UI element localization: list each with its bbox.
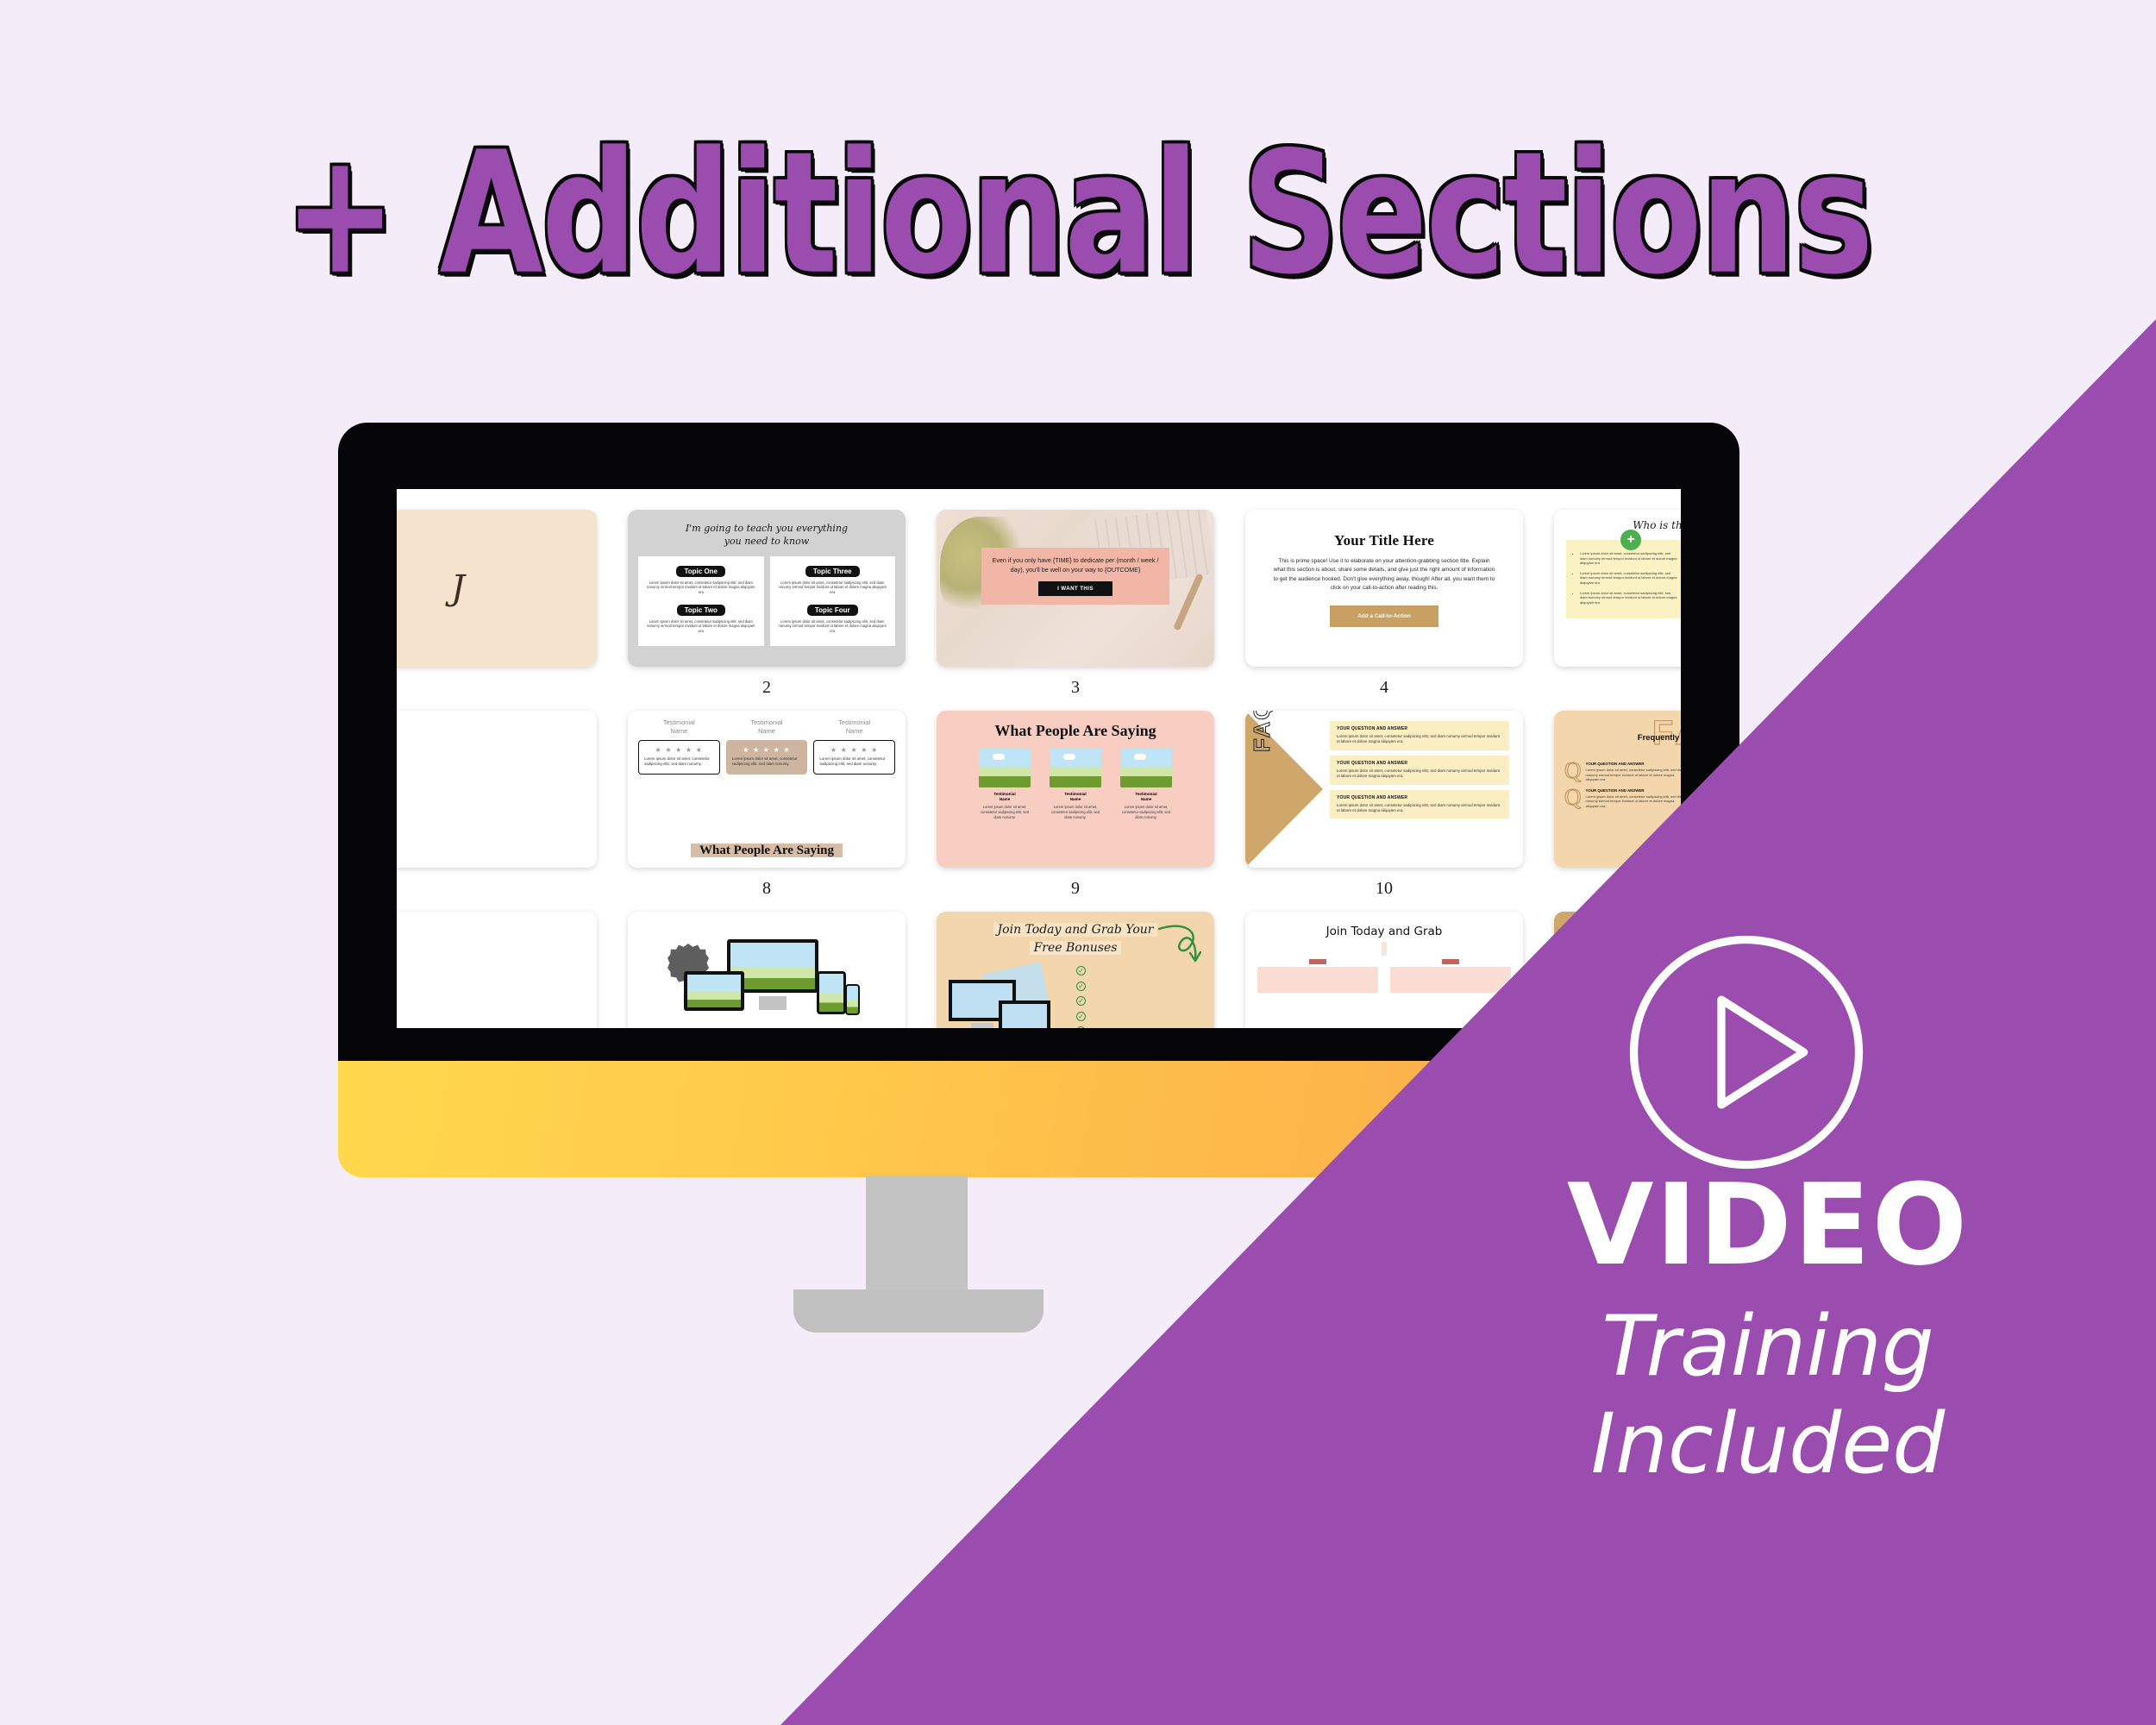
small-tablet-icon bbox=[817, 971, 846, 1014]
slide-15-bonuses-checklist: Join Today and Grab Your Free Bonuses bbox=[937, 912, 1214, 1028]
slide-number-9: 9 bbox=[937, 879, 1214, 901]
play-circle-icon[interactable] bbox=[1621, 927, 1871, 1177]
slide-16-title: Join Today and Grab bbox=[1257, 924, 1511, 957]
slide-4-cta-button[interactable]: Add a Call-to-Action bbox=[1330, 605, 1438, 627]
faq-answer: Lorem ipsum dolor sit amet, consetetur s… bbox=[1337, 803, 1502, 814]
testimonial-quote: Lorem ipsum dolor sit amet, consetetur s… bbox=[819, 756, 889, 768]
faq-question: YOUR QUESTION AND ANSWER bbox=[1337, 795, 1502, 800]
topic-label: Topic Two bbox=[677, 605, 725, 616]
slide-thumbnail-4[interactable]: Your Title Here This is prime space! Use… bbox=[1245, 510, 1523, 667]
slide-1-monogram-art: J bbox=[397, 510, 597, 667]
checklist: ✓ ✓ ✓ ✓ ✓ bbox=[1076, 966, 1091, 1028]
slide-number-5: 5 bbox=[1554, 678, 1681, 700]
faq-answer: Lorem ipsum dolor sit amet, consetetur s… bbox=[1586, 794, 1682, 809]
slide-4-body: This is prime space! Use it to elaborate… bbox=[1268, 557, 1501, 593]
slide-2-column-right: Topic Three Lorem ipsum dolor sit amet, … bbox=[770, 556, 896, 646]
slide-cell-9[interactable]: What People Are Saying TestimonialName L… bbox=[921, 700, 1230, 901]
bonus-card bbox=[1390, 967, 1511, 993]
slide-cell-13[interactable]: 13 bbox=[397, 901, 612, 1028]
checklist-item: ✓ bbox=[1076, 966, 1091, 975]
testimonial-quote: Lorem ipsum dolor sit amet, consetetur s… bbox=[644, 756, 714, 768]
topic-body: Lorem ipsum dolor sit amet, consetetur s… bbox=[775, 619, 891, 634]
poster-canvas: + Additional Sections J 1 bbox=[0, 0, 2156, 1725]
slide-14-bonuses-devices bbox=[628, 912, 906, 1028]
image-placeholder bbox=[1120, 748, 1172, 787]
bonus-tag bbox=[1442, 959, 1459, 964]
topic-label: Topic Three bbox=[805, 566, 860, 577]
checklist-item: ✓ bbox=[1076, 1026, 1091, 1028]
slide-number-8: 8 bbox=[628, 879, 906, 901]
star-rating-icon: ★ ★ ★ ★ ★ bbox=[819, 746, 889, 754]
slide-4-title-cta: Your Title Here This is prime space! Use… bbox=[1245, 510, 1523, 667]
bonus-card bbox=[1257, 967, 1378, 993]
faq-question: YOUR QUESTION AND ANSWER bbox=[1586, 788, 1682, 793]
check-circle-icon: ✓ bbox=[1076, 1012, 1086, 1021]
slide-number-10: 10 bbox=[1245, 879, 1523, 901]
topic-label: Topic Four bbox=[807, 605, 858, 616]
pros-bullet: Lorem ipsum dolor sit amet, consetetur s… bbox=[1580, 571, 1677, 586]
slide-5-who-for: Who is this course for? + Lorem ipsum do… bbox=[1554, 510, 1681, 667]
slide-3-body: Even if you only have {TIME} to dedicate… bbox=[988, 555, 1163, 574]
star-rating-icon: ★ ★ ★ ★ ★ bbox=[732, 746, 802, 754]
testimonial-name: TestimonialName bbox=[1050, 792, 1101, 802]
slide-number-3: 3 bbox=[937, 678, 1214, 700]
slide-2-topics: I'm going to teach you everything you ne… bbox=[628, 510, 906, 667]
testimonial-quote: Lorem ipsum dolor sit amet, consetetur s… bbox=[1120, 805, 1172, 819]
slide-cell-2[interactable]: I'm going to teach you everything you ne… bbox=[612, 499, 921, 700]
testimonial-name: TestimonialName bbox=[726, 718, 808, 736]
video-subtitle: Training Included bbox=[1449, 1298, 2087, 1494]
monitor-stand-shape bbox=[759, 996, 787, 1010]
checklist-item: ✓ bbox=[1076, 982, 1091, 991]
slide-cell-4[interactable]: Your Title Here This is prime space! Use… bbox=[1230, 499, 1539, 700]
slide-thumbnail-8[interactable]: TestimonialName ★ ★ ★ ★ ★ Lorem ipsum do… bbox=[628, 711, 906, 868]
testimonial-quote: Lorem ipsum dolor sit amet, consetetur s… bbox=[732, 756, 802, 768]
faq-answer: Lorem ipsum dolor sit amet, consetetur s… bbox=[1337, 734, 1502, 745]
slide-4-title: Your Title Here bbox=[1268, 532, 1501, 549]
slide-5-pros-panel: + Lorem ipsum dolor sit amet, consetetur… bbox=[1566, 540, 1681, 618]
slide-cell-1[interactable]: J 1 bbox=[397, 499, 612, 700]
monogram-glyph: J bbox=[451, 568, 465, 608]
slide-thumbnail-13[interactable] bbox=[397, 912, 597, 1028]
slide-thumbnail-1[interactable]: J bbox=[397, 510, 597, 667]
topic-body: Lorem ipsum dolor sit amet, consetetur s… bbox=[643, 580, 759, 595]
check-circle-icon: ✓ bbox=[1076, 996, 1086, 1006]
testimonial-quote: Lorem ipsum dolor sit amet, consetetur s… bbox=[979, 805, 1031, 819]
faq-item: Q YOUR QUESTION AND ANSWER Lorem ipsum d… bbox=[1564, 762, 1681, 782]
pen-photo-element bbox=[1173, 573, 1204, 630]
slide-cell-10[interactable]: FAQs YOUR QUESTION AND ANSWER Lorem ipsu… bbox=[1230, 700, 1539, 901]
slide-8-testimonial-bubbles: TestimonialName ★ ★ ★ ★ ★ Lorem ipsum do… bbox=[628, 711, 906, 868]
testimonial-name: TestimonialName bbox=[1120, 792, 1172, 802]
check-circle-icon: ✓ bbox=[1076, 966, 1086, 975]
slide-cell-7[interactable]: 7 bbox=[397, 700, 612, 901]
slide-thumbnail-10[interactable]: FAQs YOUR QUESTION AND ANSWER Lorem ipsu… bbox=[1245, 711, 1523, 868]
slide-thumbnail-3[interactable]: Even if you only have {TIME} to dedicate… bbox=[937, 510, 1214, 667]
testimonial-item: TestimonialName Lorem ipsum dolor sit am… bbox=[1120, 748, 1172, 820]
image-placeholder bbox=[979, 748, 1031, 787]
slide-5-heading: Who is this course for? bbox=[1566, 519, 1681, 531]
testimonial-bubble: ★ ★ ★ ★ ★ Lorem ipsum dolor sit amet, co… bbox=[638, 740, 720, 775]
video-label: VIDEO bbox=[1466, 1169, 2070, 1281]
faq-item: YOUR QUESTION AND ANSWER Lorem ipsum dol… bbox=[1330, 790, 1509, 819]
q-letter-icon: Q bbox=[1564, 788, 1582, 809]
slide-cell-3[interactable]: Even if you only have {TIME} to dedicate… bbox=[921, 499, 1230, 700]
star-rating-icon: ★ ★ ★ ★ ★ bbox=[644, 746, 714, 754]
slide-cell-15[interactable]: Join Today and Grab Your Free Bonuses bbox=[921, 901, 1230, 1028]
faq-answer: Lorem ipsum dolor sit amet, consetetur s… bbox=[1337, 768, 1502, 780]
monitor-stand-shape bbox=[971, 1023, 993, 1028]
topic-body: Lorem ipsum dolor sit amet, consetetur s… bbox=[643, 619, 759, 634]
slide-cell-8[interactable]: TestimonialName ★ ★ ★ ★ ★ Lorem ipsum do… bbox=[612, 700, 921, 901]
slide-8-footer: What People Are Saying bbox=[628, 843, 906, 858]
slide-13-blank bbox=[397, 912, 597, 1028]
slide-11-title: Frequently Asked Questions bbox=[1564, 733, 1681, 743]
plus-circle-icon: + bbox=[1620, 530, 1641, 550]
pros-bullet: Lorem ipsum dolor sit amet, consetetur s… bbox=[1580, 551, 1677, 566]
check-circle-icon: ✓ bbox=[1076, 982, 1086, 991]
slide-cell-14[interactable]: 13 bbox=[612, 901, 921, 1028]
video-subtitle-line-1: Training bbox=[1449, 1298, 2087, 1396]
testimonial-name: TestimonialName bbox=[813, 718, 895, 736]
device-mockup-group bbox=[947, 963, 1068, 1028]
bonus-tag bbox=[1309, 959, 1326, 964]
phone-icon bbox=[845, 984, 860, 1015]
testimonial-item: TestimonialName Lorem ipsum dolor sit am… bbox=[979, 748, 1031, 820]
slide-thumbnail-grid: J 1 I'm going to teach you everything yo… bbox=[397, 499, 1681, 1028]
slide-thumbnail-14[interactable] bbox=[628, 912, 906, 1028]
pros-bullet: Lorem ipsum dolor sit amet, consetetur s… bbox=[1580, 591, 1677, 605]
monitor-stand-foot bbox=[793, 1289, 1044, 1333]
slide-10-faqs-arrow: FAQs YOUR QUESTION AND ANSWER Lorem ipsu… bbox=[1245, 711, 1523, 868]
page-title: + Additional Sections bbox=[33, 129, 2124, 298]
slide-thumbnail-2[interactable]: I'm going to teach you everything you ne… bbox=[628, 510, 906, 667]
slide-2-heading: I'm going to teach you everything you ne… bbox=[638, 523, 895, 549]
topic-label: Topic One bbox=[676, 566, 725, 577]
testimonial-name: TestimonialName bbox=[638, 718, 720, 736]
faq-question: YOUR QUESTION AND ANSWER bbox=[1337, 761, 1502, 766]
checklist-item: ✓ bbox=[1076, 996, 1091, 1006]
slide-thumbnail-5[interactable]: Who is this course for? + Lorem ipsum do… bbox=[1554, 510, 1681, 667]
testimonial-quote: Lorem ipsum dolor sit amet, consetetur s… bbox=[1050, 805, 1101, 819]
q-letter-icon: Q bbox=[1564, 762, 1582, 782]
testimonial-name: TestimonialName bbox=[979, 792, 1031, 802]
slide-2-column-left: Topic One Lorem ipsum dolor sit amet, co… bbox=[638, 556, 764, 646]
slide-cell-5[interactable]: Who is this course for? + Lorem ipsum do… bbox=[1539, 499, 1681, 700]
slide-10-side-label: FAQs bbox=[1249, 711, 1275, 752]
check-circle-icon: ✓ bbox=[1076, 1026, 1086, 1028]
faq-item: Q YOUR QUESTION AND ANSWER Lorem ipsum d… bbox=[1564, 788, 1681, 809]
curved-arrow-icon bbox=[1156, 924, 1202, 965]
slide-3-cta-button[interactable]: I WANT THIS bbox=[1038, 581, 1112, 596]
image-placeholder bbox=[1050, 748, 1101, 787]
slide-3-photo-cta: Even if you only have {TIME} to dedicate… bbox=[937, 510, 1214, 667]
faq-item: YOUR QUESTION AND ANSWER Lorem ipsum dol… bbox=[1330, 756, 1509, 785]
drop-image-placeholder-2 bbox=[999, 1000, 1050, 1028]
slide-thumbnail-7[interactable] bbox=[397, 711, 597, 868]
slide-9-title: What People Are Saying bbox=[949, 722, 1202, 740]
monitor-screen: J 1 I'm going to teach you everything yo… bbox=[397, 489, 1681, 1028]
tablet-icon bbox=[684, 971, 744, 1011]
slide-7-blank bbox=[397, 711, 597, 868]
faq-item: YOUR QUESTION AND ANSWER Lorem ipsum dol… bbox=[1330, 721, 1509, 750]
faq-question: YOUR QUESTION AND ANSWER bbox=[1337, 726, 1502, 731]
checklist-item: ✓ bbox=[1076, 1012, 1091, 1021]
slide-thumbnail-15[interactable]: Join Today and Grab Your Free Bonuses bbox=[937, 912, 1214, 1028]
slide-3-text-panel: Even if you only have {TIME} to dedicate… bbox=[981, 548, 1169, 605]
slide-9-testimonial-photos: What People Are Saying TestimonialName L… bbox=[937, 711, 1214, 868]
slide-number-2: 2 bbox=[628, 678, 906, 700]
topic-body: Lorem ipsum dolor sit amet, consetetur s… bbox=[775, 580, 891, 595]
slide-number-4: 4 bbox=[1245, 678, 1523, 700]
testimonial-bubble: ★ ★ ★ ★ ★ Lorem ipsum dolor sit amet, co… bbox=[813, 740, 895, 775]
faq-answer: Lorem ipsum dolor sit amet, consetetur s… bbox=[1586, 768, 1682, 782]
testimonial-bubble: ★ ★ ★ ★ ★ Lorem ipsum dolor sit amet, co… bbox=[726, 740, 808, 775]
faq-question: YOUR QUESTION AND ANSWER bbox=[1586, 762, 1682, 766]
video-subtitle-line-2: Included bbox=[1449, 1396, 2087, 1493]
slide-thumbnail-9[interactable]: What People Are Saying TestimonialName L… bbox=[937, 711, 1214, 868]
testimonial-item: TestimonialName Lorem ipsum dolor sit am… bbox=[1050, 748, 1101, 820]
